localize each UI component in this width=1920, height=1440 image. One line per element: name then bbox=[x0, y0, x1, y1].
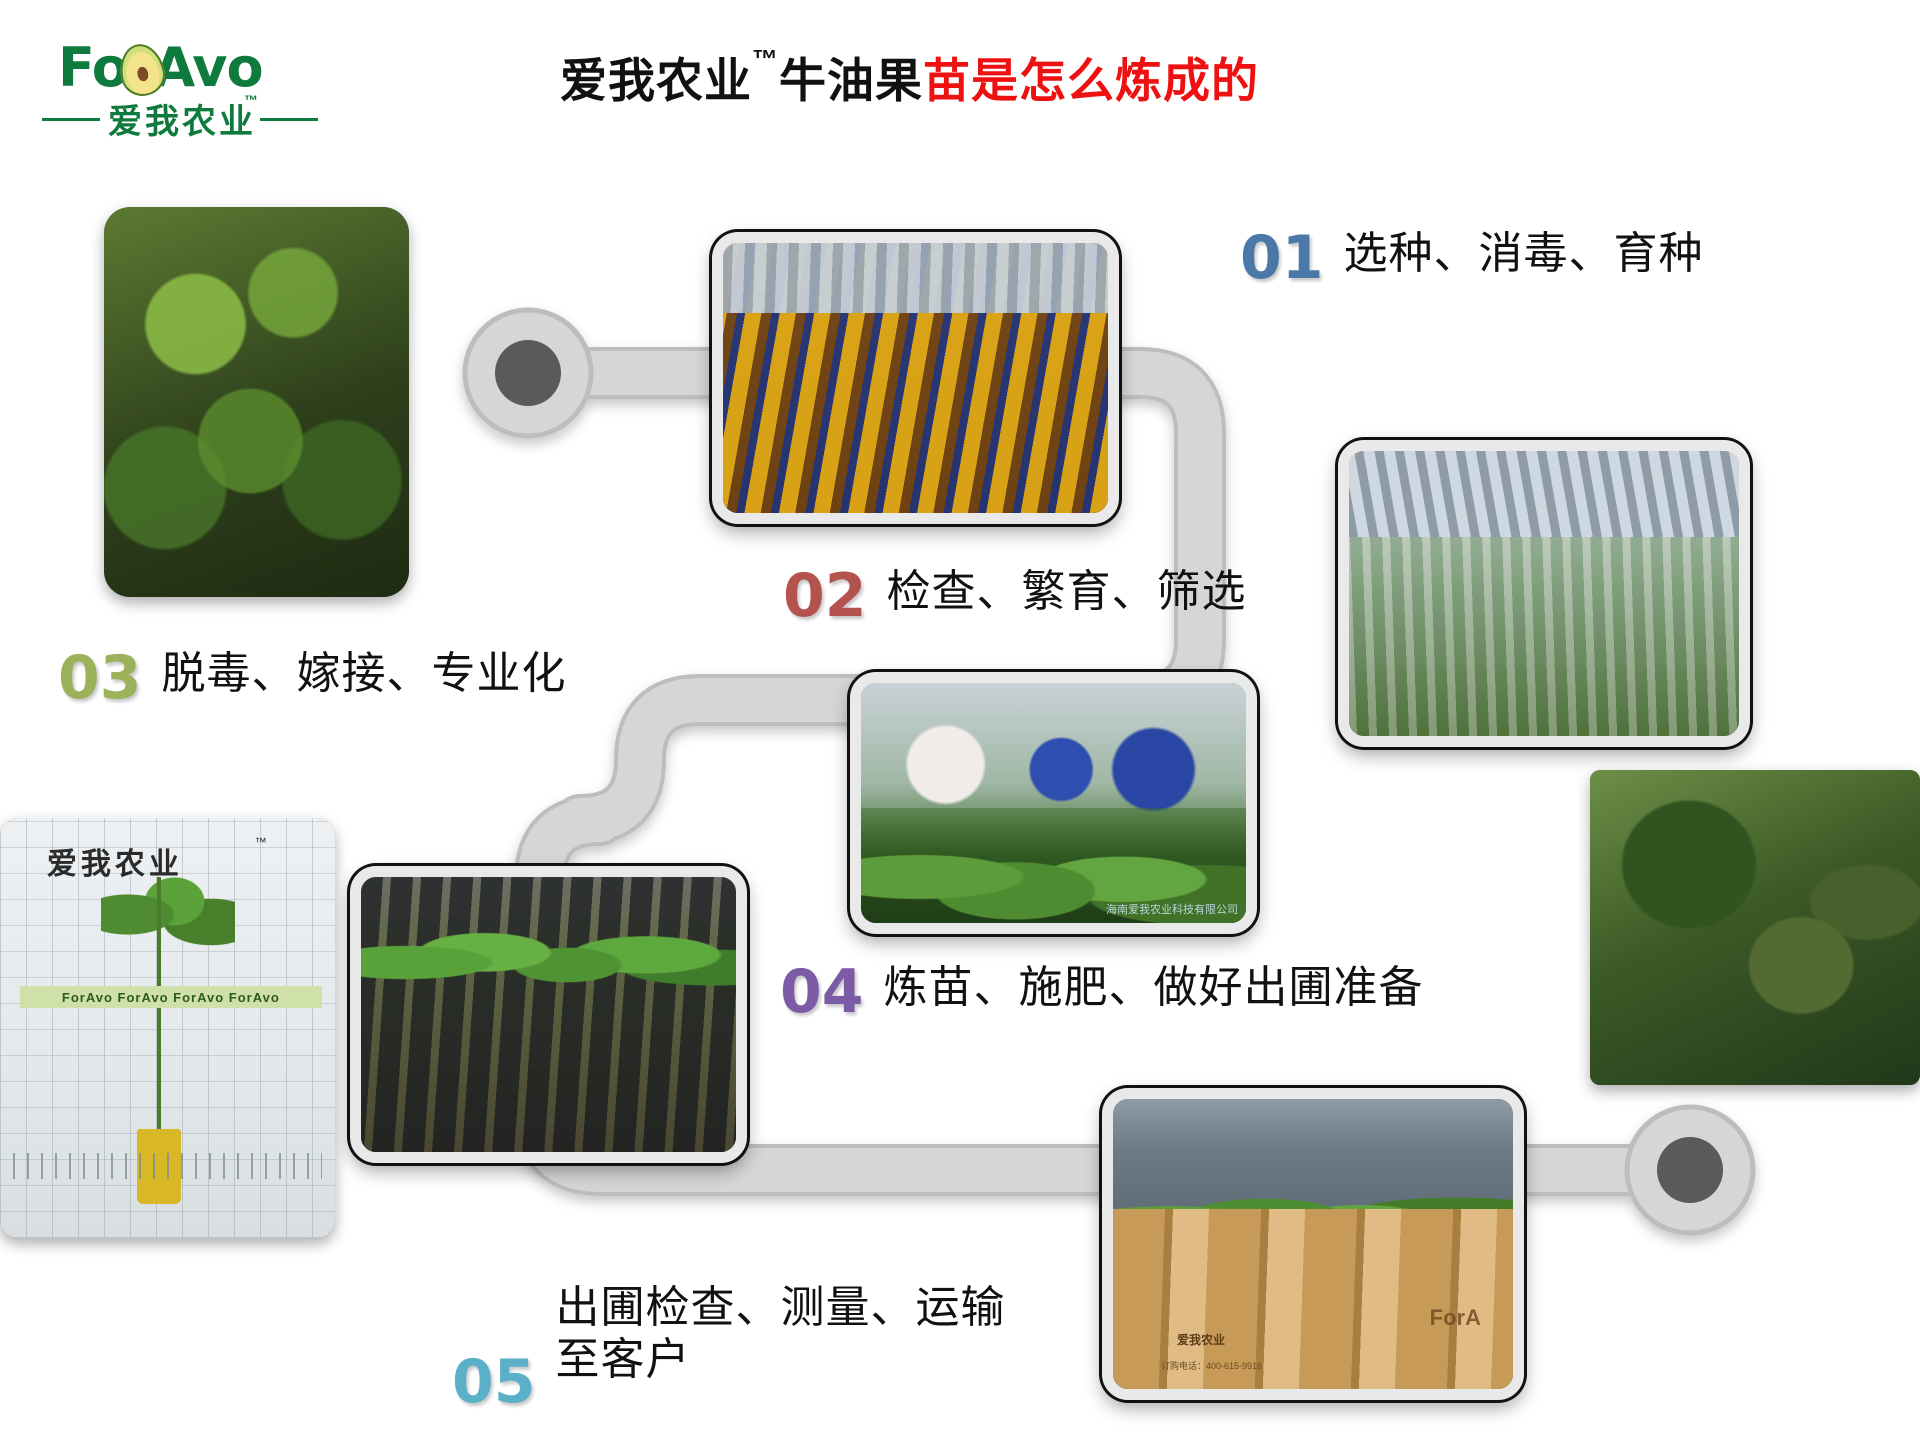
flow-start-dot bbox=[495, 340, 561, 406]
title-part-black2: 牛油果 bbox=[779, 54, 923, 107]
title-tm: ™ bbox=[752, 44, 779, 74]
flow-end-dot bbox=[1657, 1137, 1723, 1203]
step-02-label: 检查、繁育、筛选 bbox=[887, 566, 1247, 618]
photo-fruit-on-tree bbox=[1590, 770, 1920, 1085]
step-05-label: 出圃检查、测量、运输 至客户 bbox=[556, 1282, 1006, 1386]
step-05-number: 05 bbox=[452, 1352, 536, 1412]
step-05-label-line2: 至客户 bbox=[556, 1334, 1006, 1386]
step-01-number: 01 bbox=[1240, 228, 1324, 288]
photo-flowering-branch bbox=[104, 207, 409, 597]
step-03-number: 03 bbox=[58, 648, 142, 708]
title-part-black: 爱我农业 bbox=[560, 54, 752, 107]
slide-canvas: ForAvo 爱我农业 ™ 爱我农业™牛油果苗是怎么炼成的 bbox=[0, 0, 1920, 1440]
photo-grafting-greenhouse bbox=[1338, 440, 1750, 747]
board-brand-strip: ForAvo ForAvo ForAvo ForAvo bbox=[20, 986, 322, 1008]
brand-logo: ForAvo 爱我农业 ™ bbox=[48, 36, 318, 146]
carton-side-mark: ForA bbox=[1430, 1305, 1481, 1331]
step-04: 04 炼苗、施肥、做好出圃准备 bbox=[780, 962, 1424, 1022]
step-03-label: 脱毒、嫁接、专业化 bbox=[162, 648, 567, 700]
step-01: 01 选种、消毒、育种 bbox=[1240, 228, 1704, 288]
carton-brand-label: 爱我农业 bbox=[1177, 1331, 1225, 1348]
logo-tm-mark: ™ bbox=[244, 92, 258, 108]
step-05: 05 出圃检查、测量、运输 至客户 bbox=[452, 1282, 1006, 1386]
logo-rule-left bbox=[42, 118, 100, 121]
photo-inspection-team: 海南爱我农业科技有限公司 bbox=[850, 672, 1257, 934]
photo-watermark: 海南爱我农业科技有限公司 bbox=[1106, 901, 1238, 917]
step-02: 02 检查、繁育、筛选 bbox=[783, 566, 1247, 626]
step-03: 03 脱毒、嫁接、专业化 bbox=[58, 648, 567, 708]
step-04-label: 炼苗、施肥、做好出圃准备 bbox=[884, 962, 1424, 1014]
page-title: 爱我农业™牛油果苗是怎么炼成的 bbox=[560, 42, 1440, 111]
board-tm: ™ bbox=[255, 835, 267, 849]
step-01-label: 选种、消毒、育种 bbox=[1344, 228, 1704, 280]
step-05-label-line1: 出圃检查、测量、运输 bbox=[556, 1283, 1006, 1332]
step-04-number: 04 bbox=[780, 962, 864, 1022]
logo-rule-right bbox=[260, 118, 318, 121]
carton-hotline: 订购电话：400-615-9916 bbox=[1161, 1359, 1262, 1372]
photo-measuring-board: 爱我农业 ™ ForAvo ForAvo ForAvo ForAvo bbox=[0, 818, 335, 1238]
photo-potted-rows bbox=[350, 866, 747, 1163]
photo-seed-trays bbox=[712, 232, 1119, 524]
title-part-red: 苗是怎么炼成的 bbox=[923, 54, 1259, 107]
photo-packing-boxes: 爱我农业 订购电话：400-615-9916 ForA bbox=[1102, 1088, 1524, 1400]
step-02-number: 02 bbox=[783, 566, 867, 626]
logo-chinese-name: 爱我农业 bbox=[108, 94, 256, 143]
